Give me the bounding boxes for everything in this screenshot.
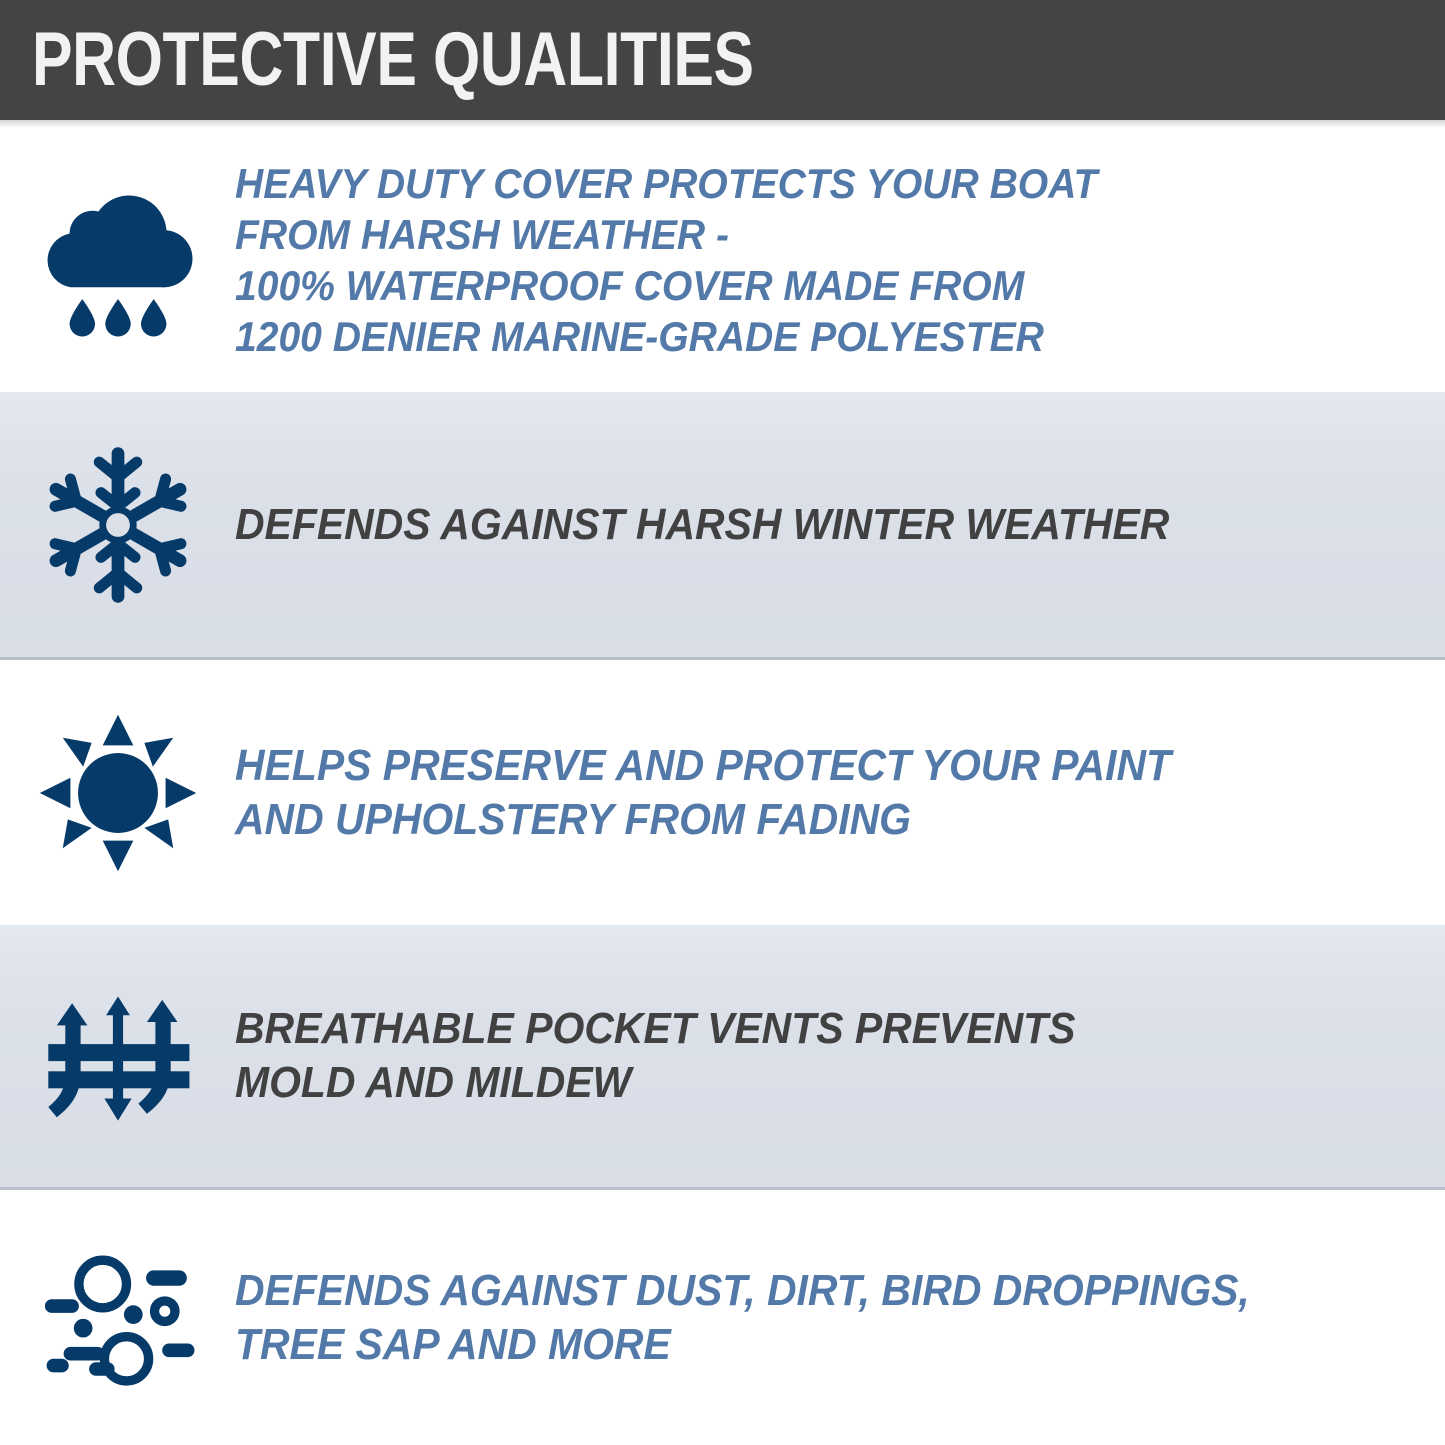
icon-cell — [0, 1190, 235, 1445]
rain-cloud-icon — [33, 175, 203, 345]
feature-row-dust: DEFENDS AGAINST DUST, DIRT, BIRD DROPPIN… — [0, 1190, 1445, 1445]
feature-text: HELPS PRESERVE AND PROTECT YOUR PAINT AN… — [235, 739, 1338, 846]
icon-cell — [0, 128, 235, 392]
feature-text: DEFENDS AGAINST DUST, DIRT, BIRD DROPPIN… — [235, 1264, 1338, 1371]
feature-text: HEAVY DUTY COVER PROTECTS YOUR BOAT FROM… — [235, 158, 1338, 363]
dust-particles-icon — [33, 1233, 203, 1403]
text-cell: HEAVY DUTY COVER PROTECTS YOUR BOAT FROM… — [235, 158, 1445, 363]
header-divider — [0, 120, 1445, 128]
feature-row-uv: HELPS PRESERVE AND PROTECT YOUR PAINT AN… — [0, 660, 1445, 925]
infographic-page: PROTECTIVE QUALITIES HEAVY DUTY COVER PR… — [0, 0, 1445, 1445]
page-title: PROTECTIVE QUALITIES — [32, 22, 754, 98]
icon-cell — [0, 392, 235, 657]
feature-row-breathable: BREATHABLE POCKET VENTS PREVENTS MOLD AN… — [0, 925, 1445, 1190]
feature-row-waterproof: HEAVY DUTY COVER PROTECTS YOUR BOAT FROM… — [0, 128, 1445, 392]
sun-icon — [33, 708, 203, 878]
icon-cell — [0, 925, 235, 1187]
icon-cell — [0, 660, 235, 925]
feature-row-winter: DEFENDS AGAINST HARSH WINTER WEATHER — [0, 392, 1445, 660]
text-cell: DEFENDS AGAINST HARSH WINTER WEATHER — [235, 498, 1445, 552]
feature-text: BREATHABLE POCKET VENTS PREVENTS MOLD AN… — [235, 1002, 1338, 1109]
feature-text: DEFENDS AGAINST HARSH WINTER WEATHER — [235, 498, 1338, 552]
air-vent-icon — [33, 971, 203, 1141]
snowflake-icon — [33, 440, 203, 610]
text-cell: HELPS PRESERVE AND PROTECT YOUR PAINT AN… — [235, 739, 1445, 846]
text-cell: DEFENDS AGAINST DUST, DIRT, BIRD DROPPIN… — [235, 1264, 1445, 1371]
header-bar: PROTECTIVE QUALITIES — [0, 0, 1445, 120]
text-cell: BREATHABLE POCKET VENTS PREVENTS MOLD AN… — [235, 1002, 1445, 1109]
